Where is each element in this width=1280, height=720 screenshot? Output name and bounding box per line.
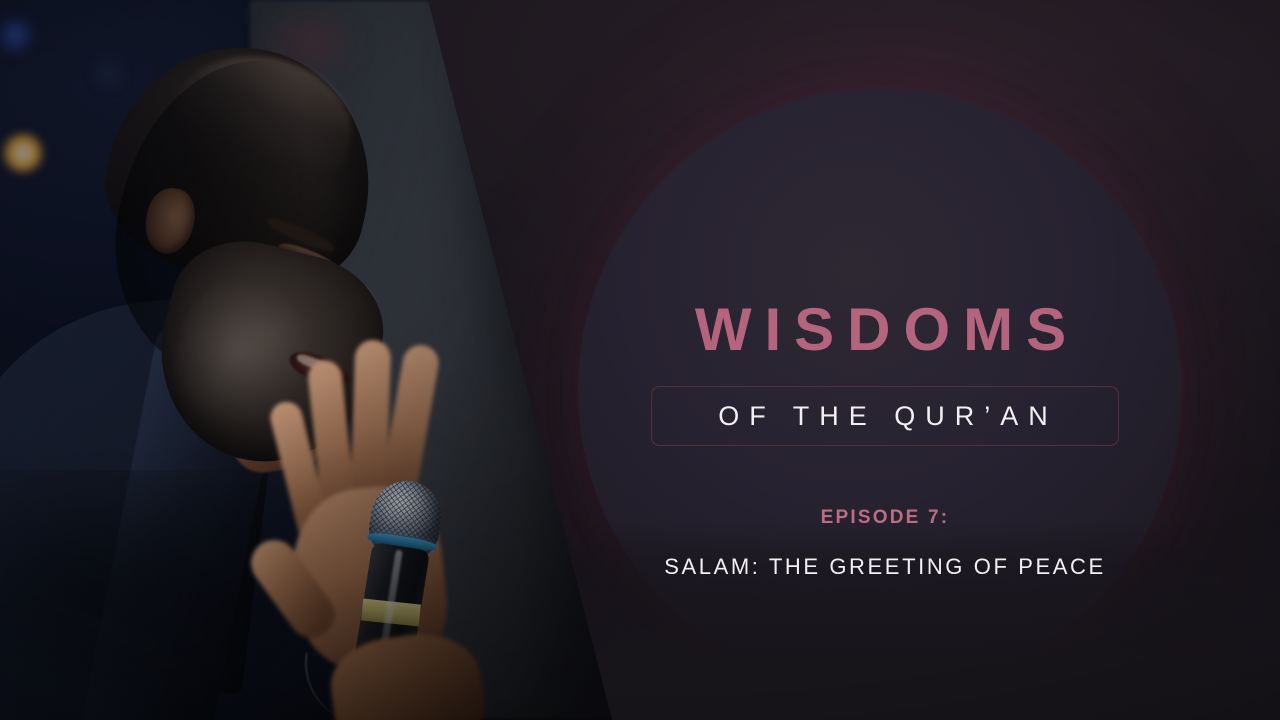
episode-title: SALAM: THE GREETING OF PEACE [620, 553, 1150, 581]
series-subtitle: OF THE QUR’AN [684, 403, 1092, 430]
series-subtitle-box: OF THE QUR’AN [651, 386, 1119, 446]
title-block: WISDOMS OF THE QUR’AN EPISODE 7: SALAM: … [620, 300, 1150, 581]
video-thumbnail: WISDOMS OF THE QUR’AN EPISODE 7: SALAM: … [0, 0, 1280, 720]
episode-label: EPISODE 7: [620, 508, 1150, 527]
series-title: WISDOMS [624, 300, 1150, 360]
